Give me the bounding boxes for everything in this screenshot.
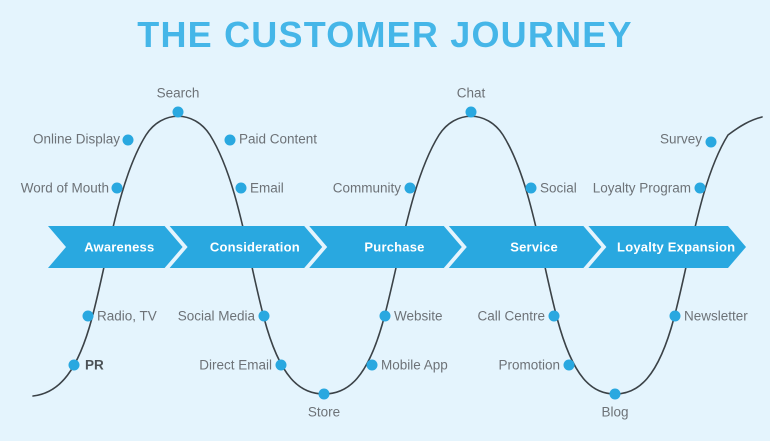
stage-chevron-loyalty-expansion[interactable]: [588, 226, 746, 268]
touchpoint-label-loyalty-program: Loyalty Program: [593, 181, 691, 195]
touchpoint-dot-word-of-mouth[interactable]: [112, 183, 123, 194]
touchpoint-label-radio-tv: Radio, TV: [97, 309, 157, 323]
touchpoint-label-call-centre: Call Centre: [477, 309, 545, 323]
touchpoint-dot-blog[interactable]: [610, 389, 621, 400]
stage-chevron-awareness[interactable]: [48, 226, 183, 268]
touchpoint-label-promotion: Promotion: [498, 358, 560, 372]
touchpoint-dot-newsletter[interactable]: [670, 311, 681, 322]
touchpoint-dot-direct-email[interactable]: [276, 360, 287, 371]
touchpoint-label-survey: Survey: [660, 132, 702, 146]
touchpoint-label-paid-content: Paid Content: [239, 132, 317, 146]
touchpoint-dot-social-media[interactable]: [259, 311, 270, 322]
touchpoint-dot-store[interactable]: [319, 389, 330, 400]
touchpoint-dot-survey[interactable]: [706, 137, 717, 148]
touchpoint-label-mobile-app: Mobile App: [381, 358, 448, 372]
touchpoint-label-website: Website: [394, 309, 443, 323]
touchpoint-dot-promotion[interactable]: [564, 360, 575, 371]
touchpoint-dot-website[interactable]: [380, 311, 391, 322]
stage-chevron-service[interactable]: [449, 226, 602, 268]
touchpoint-label-online-display: Online Display: [33, 132, 120, 146]
infographic-canvas: THE CUSTOMER JOURNEY SearchOnline Displa…: [0, 0, 770, 441]
touchpoint-dot-search[interactable]: [173, 107, 184, 118]
stage-banner: [48, 226, 746, 268]
touchpoint-label-social: Social: [540, 181, 577, 195]
touchpoint-dot-online-display[interactable]: [123, 135, 134, 146]
touchpoint-label-direct-email: Direct Email: [199, 358, 272, 372]
touchpoint-dot-loyalty-program[interactable]: [695, 183, 706, 194]
touchpoint-dot-pr[interactable]: [69, 360, 80, 371]
touchpoint-dot-mobile-app[interactable]: [367, 360, 378, 371]
stage-chevron-purchase[interactable]: [309, 226, 462, 268]
touchpoint-dot-paid-content[interactable]: [225, 135, 236, 146]
touchpoint-label-newsletter: Newsletter: [684, 309, 748, 323]
touchpoint-label-community: Community: [333, 181, 401, 195]
touchpoint-dot-social[interactable]: [526, 183, 537, 194]
touchpoint-label-chat: Chat: [457, 86, 486, 100]
touchpoint-dot-call-centre[interactable]: [549, 311, 560, 322]
journey-diagram: [0, 0, 770, 441]
touchpoint-label-email: Email: [250, 181, 284, 195]
touchpoint-dot-email[interactable]: [236, 183, 247, 194]
touchpoint-label-blog: Blog: [601, 405, 628, 419]
touchpoint-label-store: Store: [308, 405, 340, 419]
touchpoint-label-word-of-mouth: Word of Mouth: [21, 181, 109, 195]
touchpoint-label-social-media: Social Media: [178, 309, 255, 323]
touchpoint-dot-chat[interactable]: [466, 107, 477, 118]
touchpoint-label-search: Search: [157, 86, 200, 100]
touchpoint-dot-radio-tv[interactable]: [83, 311, 94, 322]
touchpoint-dot-community[interactable]: [405, 183, 416, 194]
touchpoint-label-pr: PR: [85, 358, 104, 372]
stage-chevron-consideration[interactable]: [170, 226, 323, 268]
